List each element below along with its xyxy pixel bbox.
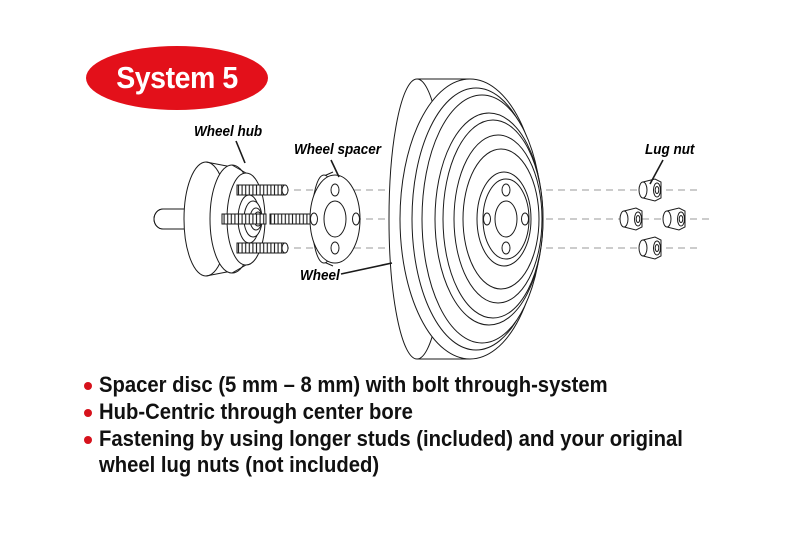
system-badge: System 5 [86, 46, 268, 110]
callout-label-wheel-hub: Wheel hub [194, 124, 262, 140]
bullet-dot-icon [84, 436, 92, 444]
diagram-page: System 5 Wheel hub Wheel spacer Wheel Lu… [0, 0, 800, 533]
list-item: Fastening by using longer studs (include… [84, 426, 764, 478]
list-item-label: Fastening by using longer studs (include… [99, 426, 683, 478]
list-item-label: Spacer disc (5 mm – 8 mm) with bolt thro… [99, 372, 608, 398]
lug-nut [620, 208, 642, 230]
lug-nut [639, 179, 661, 201]
list-item: Spacer disc (5 mm – 8 mm) with bolt thro… [84, 372, 764, 398]
lug-nuts [620, 179, 685, 259]
callout-label-wheel: Wheel [300, 268, 340, 284]
callout-label-wheel-spacer: Wheel spacer [294, 142, 381, 158]
bullet-dot-icon [84, 382, 92, 390]
feature-list: Spacer disc (5 mm – 8 mm) with bolt thro… [84, 372, 764, 479]
list-item: Hub-Centric through center bore [84, 399, 764, 425]
wheel-spacer [310, 172, 360, 266]
list-item-label: Hub-Centric through center bore [99, 399, 413, 425]
lug-nut [663, 208, 685, 230]
lug-nut [639, 237, 661, 259]
callout-label-lug-nut: Lug nut [645, 142, 694, 158]
bullet-dot-icon [84, 409, 92, 417]
wheel [389, 79, 543, 359]
badge-label: System 5 [93, 46, 260, 110]
